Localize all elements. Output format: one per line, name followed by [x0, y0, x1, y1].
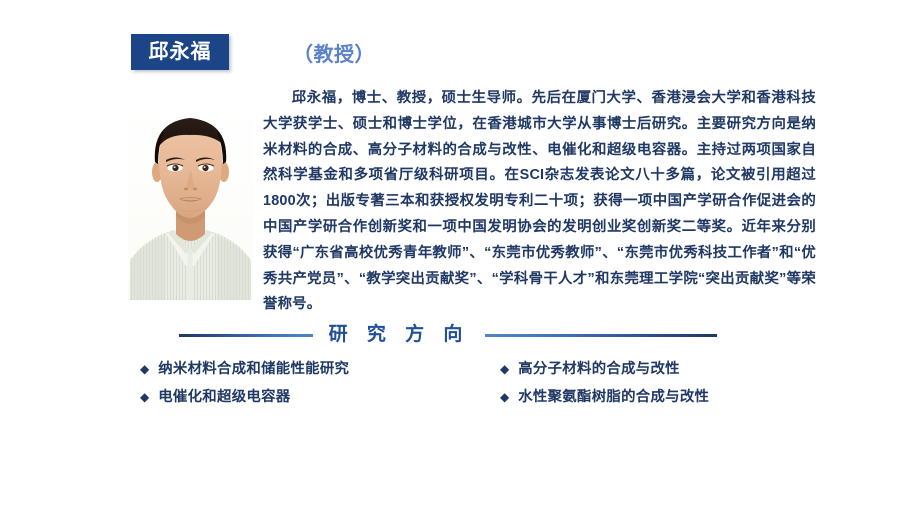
list-item-label: 高分子材料的合成与改性 — [518, 362, 680, 376]
list-item: ◆ 高分子材料的合成与改性 — [500, 362, 820, 376]
list-item-label: 电催化和超级电容器 — [158, 390, 290, 404]
diamond-bullet-icon: ◆ — [500, 391, 509, 403]
research-section-header: 研 究 方 向 — [128, 320, 768, 348]
list-row: ◆ 电催化和超级电容器 ◆ 水性聚氨酯树脂的合成与改性 — [140, 383, 820, 411]
list-item-label: 水性聚氨酯树脂的合成与改性 — [518, 390, 709, 404]
diamond-bullet-icon: ◆ — [140, 363, 149, 375]
professor-name: 邱永福 — [149, 42, 212, 62]
name-badge: 邱永福 — [131, 34, 229, 70]
biography-paragraph: 邱永福，博士、教授，硕士生导师。先后在厦门大学、香港浸会大学和香港科技大学获学士… — [263, 86, 816, 318]
divider-line-right — [485, 334, 717, 337]
list-row: ◆ 纳米材料合成和储能性能研究 ◆ 高分子材料的合成与改性 — [140, 355, 820, 383]
diamond-bullet-icon: ◆ — [500, 363, 509, 375]
portrait-photo — [128, 100, 253, 300]
list-item: ◆ 水性聚氨酯树脂的合成与改性 — [500, 390, 820, 404]
list-item: ◆ 纳米材料合成和储能性能研究 — [140, 362, 500, 376]
section-title-research-direction: 研 究 方 向 — [313, 325, 486, 344]
diamond-bullet-icon: ◆ — [140, 391, 149, 403]
professor-role-title: （教授） — [293, 38, 375, 67]
research-direction-list: ◆ 纳米材料合成和储能性能研究 ◆ 高分子材料的合成与改性 ◆ 电催化和超级电容… — [140, 355, 820, 411]
profile-slide: 邱永福 （教授） — [0, 0, 900, 506]
list-item: ◆ 电催化和超级电容器 — [140, 390, 500, 404]
divider-line-left — [179, 334, 313, 337]
list-item-label: 纳米材料合成和储能性能研究 — [158, 362, 349, 376]
